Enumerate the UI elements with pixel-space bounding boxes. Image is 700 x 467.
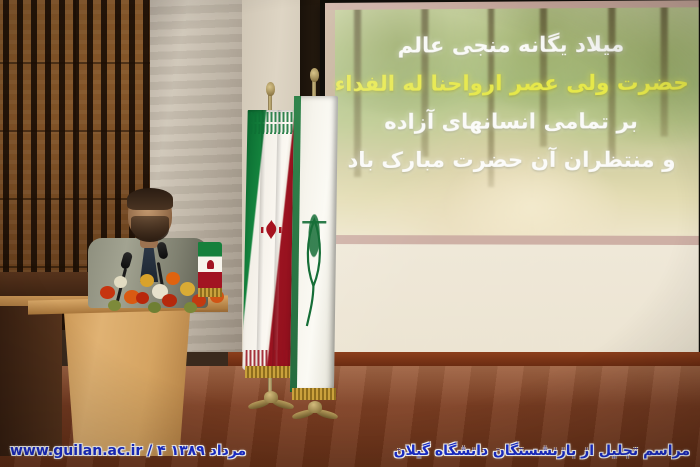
projection-screen-surface: میلاد یگانه منجی عالم حضرت ولی عصر ارواح… [325,0,699,358]
caption-event-title: مراسم تجلیل از بازنشستگان دانشگاه گیلان [394,443,690,459]
university-flag-emblem [301,214,327,334]
slide-lower-area [325,244,699,358]
desk-iran-flag [198,242,224,304]
slide-line-3: بر تمامی انسانهای آزاده [325,102,699,141]
desk-iran-flag-fringe [198,288,222,297]
speaker-podium [58,306,196,456]
university-flagpole-finial [310,68,319,82]
iran-flagpole-finial [266,82,275,96]
photograph: میلاد یگانه منجی عالم حضرت ولی عصر ارواح… [0,0,700,467]
desk-iran-flag-emblem [207,260,214,269]
slide-line-2: حضرت ولی عصر ارواحنا له الفداء [325,63,699,103]
university-flag [290,96,338,392]
projection-screen: میلاد یگانه منجی عالم حضرت ولی عصر ارواح… [320,0,700,363]
iran-flag-stand [248,388,294,408]
slide-line-4: و منتظران آن حضرت مبارک باد [325,140,699,179]
speaker-hair [127,188,173,210]
iran-flag-emblem [258,217,285,243]
podium-shadow [0,306,62,456]
slide-line-1: میلاد یگانه منجی عالم [325,25,699,65]
speaker-beard [131,216,169,242]
caption-website-date: www.guilan.ac.ir / ۴ مرداد ۱۳۸۹ [10,443,246,459]
slide-text-block: میلاد یگانه منجی عالم حضرت ولی عصر ارواح… [325,25,699,179]
university-flag-stand [292,398,338,418]
